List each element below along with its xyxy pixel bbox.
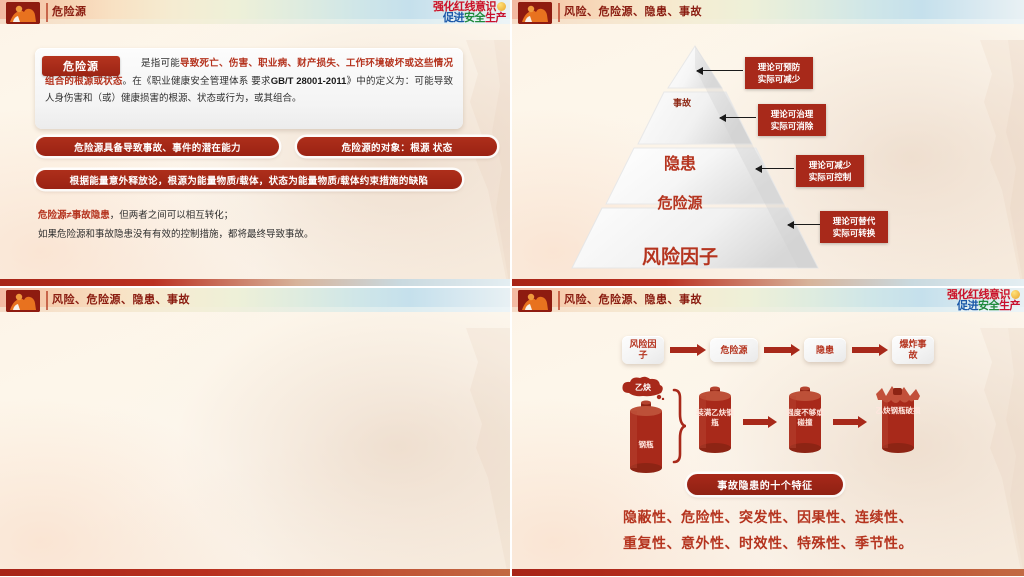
slide-1-hazard-definition: 危险源 强化红线意识 促进安全生产 是指可能导致死亡、伤害、职业病、财产损失、工…: [0, 0, 512, 288]
pyramid-level-label-hazard-source: 危险源: [610, 192, 750, 213]
slide-title: 风险、危险源、隐患、事故: [564, 5, 702, 19]
slide-grid: 危险源 强化红线意识 促进安全生产 是指可能导致死亡、伤害、职业病、财产损失、工…: [0, 0, 1024, 577]
pyramid-annotation-1: 理论可预防 实际可减少: [745, 57, 813, 89]
acetylene-cloud-icon: 乙炔: [619, 376, 667, 400]
background-mountain-graphic: [390, 328, 510, 576]
pyramid-arrow-2: [720, 117, 756, 118]
slide-title: 危险源: [52, 5, 87, 19]
chain-arrow-3: [852, 344, 888, 356]
smiley-icon: [1011, 290, 1020, 299]
definition-mid1: 。在《职业健康安全管理体系 要求: [123, 76, 271, 87]
statement-pill-row: 危险源具备导致事故、事件的潜在能力 危险源的对象：根源 状态: [35, 137, 463, 156]
chain-box-explosion-accident[interactable]: 爆炸事故: [892, 336, 934, 364]
cylinder-1-icon: 钢瓶: [624, 402, 668, 476]
cylinder-arrow-2: [833, 416, 867, 428]
cylinder-arrow-1: [743, 416, 777, 428]
slide-footer-bar: [512, 569, 1024, 576]
pyramid-annotation-4-line1: 理论可替代: [826, 215, 882, 227]
definition-lead: 是指可能: [141, 58, 180, 69]
chain-box-latent-hazard[interactable]: 隐患: [804, 338, 846, 362]
definition-card: 是指可能导致死亡、伤害、职业病、财产损失、工作环境破坏或这些情况组合的根源或状态…: [35, 48, 463, 129]
slide-footer-bar: [0, 279, 512, 286]
pyramid-arrow-1: [697, 70, 743, 71]
closing-note: 危险源≠事故隐患，但两者之间可以相互转化； 如果危险源和事故隐患没有有效的控制措…: [38, 206, 478, 244]
acetylene-cloud-label: 乙炔: [619, 382, 667, 393]
pyramid-annotation-2-line2: 实际可消除: [764, 120, 820, 132]
chain-box-hazard-source[interactable]: 危险源: [710, 338, 758, 362]
smiley-icon: [497, 2, 506, 11]
closing-line-1-rest: ，但两者之间可以相互转化；: [110, 210, 234, 221]
pyramid-annotation-4: 理论可替代 实际可转换: [820, 211, 888, 243]
pyramid-annotation-2: 理论可治理 实际可消除: [758, 104, 826, 136]
chain-arrow-2: [764, 344, 800, 356]
pyramid-annotation-3: 理论可减少 实际可控制: [796, 155, 864, 187]
pyramid-level-label-accident: 事故: [652, 96, 712, 109]
brand-slogan-line2: 促进安全生产: [402, 12, 506, 23]
slide-title: 风险、危险源、隐患、事故: [564, 293, 702, 307]
brand-slogan-line2: 促进安全生产: [916, 300, 1020, 311]
closing-line-2: 如果危险源和事故隐患没有有效的控制措施，都将最终导致事故。: [38, 225, 478, 244]
safety-logo-icon: [518, 290, 552, 312]
brand-slogan: 强化红线意识 促进安全生产: [916, 289, 1020, 312]
title-divider: [46, 291, 48, 310]
slide-footer-bar: [0, 569, 512, 576]
pyramid-annotation-1-line1: 理论可预防: [751, 61, 807, 73]
closing-line-1: 危险源≠事故隐患，但两者之间可以相互转化；: [38, 206, 478, 225]
chain-box-risk-factor[interactable]: 风险因子: [622, 336, 664, 364]
background-mountain-graphic: [904, 40, 1024, 288]
safety-logo-icon: [6, 290, 40, 312]
feature-list-line-1: 隐蔽性、危险性、突发性、因果性、连续性、: [548, 504, 988, 530]
brand-slogan: 强化红线意识 促进安全生产: [402, 1, 506, 24]
pyramid-level-label-risk-factor: 风险因子: [590, 242, 770, 269]
slide-4-acetylene-example: 风险、危险源、隐患、事故 强化红线意识 促进安全生产 风险因子 危险源 隐患 爆…: [512, 288, 1024, 576]
pyramid-annotation-2-line1: 理论可治理: [764, 108, 820, 120]
pyramid-arrow-4: [788, 224, 824, 225]
safety-logo-icon: [518, 2, 552, 24]
pyramid-annotation-1-line2: 实际可减少: [751, 73, 807, 85]
grouping-brace-icon: [672, 388, 686, 464]
chain-box-risk-factor-label: 风险因子: [629, 339, 657, 361]
title-divider: [558, 3, 560, 22]
slide-3-risk-flow: 风险、危险源、隐患、事故 外部激励 A风险因子 B风险因子 危险源 超出设定安全…: [0, 288, 512, 576]
statement-pill-1[interactable]: 危险源具备导致事故、事件的潜在能力: [36, 137, 279, 156]
statement-pill-2[interactable]: 危险源的对象：根源 状态: [297, 137, 497, 156]
slide-title: 风险、危险源、隐患、事故: [52, 293, 190, 307]
pyramid-level-label-latent-hazard: 隐患: [630, 150, 730, 174]
definition-standard-code: GB/T 28001-2011: [271, 76, 347, 87]
cylinder-2-icon: 装满乙炔钢瓶: [694, 388, 736, 456]
pyramid-annotation-3-line2: 实际可控制: [802, 171, 858, 183]
slide-footer-bar: [512, 279, 1024, 286]
chain-arrow-1: [670, 344, 706, 356]
title-divider: [558, 291, 560, 310]
slide-2-risk-pyramid: 风险、危险源、隐患、事故: [512, 0, 1024, 288]
cylinder-4-damaged-icon: 乙炔钢瓶破损: [874, 384, 922, 456]
pyramid-annotation-4-line2: 实际可转换: [826, 227, 882, 239]
definition-tag-badge: 危险源: [42, 56, 120, 76]
pyramid-arrow-3: [756, 168, 794, 169]
closing-highlight: 危险源≠事故隐患: [38, 210, 110, 221]
safety-logo-icon: [6, 2, 40, 24]
pyramid-annotation-3-line1: 理论可减少: [802, 159, 858, 171]
title-divider: [46, 3, 48, 22]
chain-box-explosion-accident-label: 爆炸事故: [899, 339, 927, 361]
feature-list: 隐蔽性、危险性、突发性、因果性、连续性、 重复性、意外性、时效性、特殊性、季节性…: [548, 504, 988, 556]
feature-title-pill[interactable]: 事故隐患的十个特征: [687, 474, 843, 495]
cylinder-3-icon: 强度不够或碰撞: [784, 388, 826, 456]
feature-list-line-2: 重复性、意外性、时效性、特殊性、季节性。: [548, 530, 988, 556]
statement-pill-3[interactable]: 根据能量意外释放论，根源为能量物质/载体，状态为能量物质/载体约束措施的缺陷: [36, 170, 462, 189]
